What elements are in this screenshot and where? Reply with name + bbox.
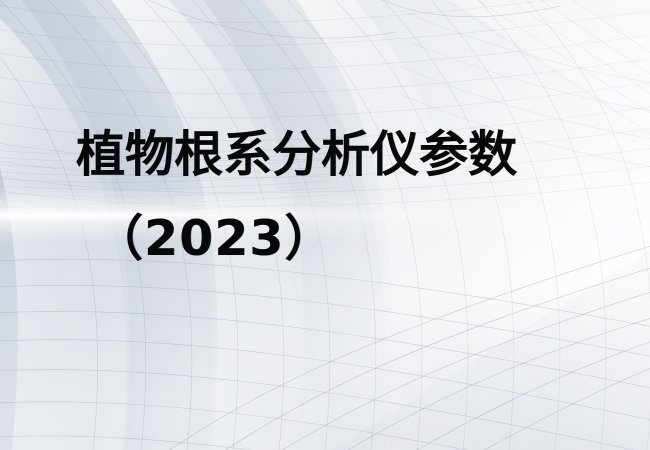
slide-subline-year: （2023） [94,208,334,270]
title-text-block: 植物根系分析仪参数 （2023） [0,0,650,450]
slide-headline: 植物根系分析仪参数 [76,124,517,186]
title-card: 植物根系分析仪参数 （2023） [0,0,650,450]
